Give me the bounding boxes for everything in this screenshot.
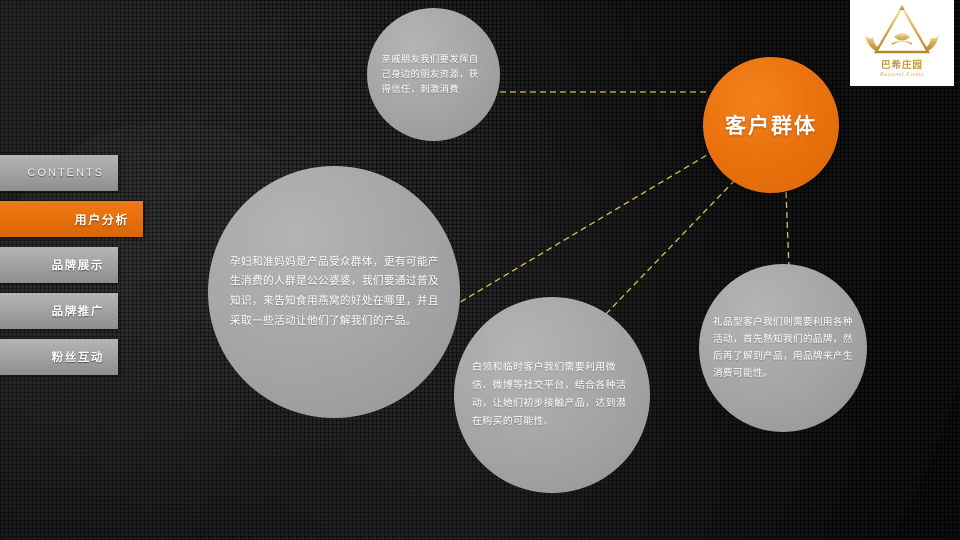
connector-pregnant: [452, 152, 712, 307]
brand-logo: 巴希庄园 Bassinet Estate: [850, 0, 954, 86]
slide-canvas: CONTENTS 用户分析 品牌展示 品牌推广 粉丝互动 亲戚朋友我们要发挥自己…: [0, 0, 960, 540]
brand-name-en: Bassinet Estate: [880, 72, 924, 78]
connector-whitecollar: [604, 180, 735, 316]
bubble-pregnant-mothers-text: 孕妇和准妈妈是产品受众群体，更有可能产生消费的人群是公公婆婆，我们要通过普及知识…: [230, 253, 446, 331]
sidebar-item-brand-promotion[interactable]: 品牌推广: [0, 293, 118, 329]
sidebar-item-user-analysis[interactable]: 用户分析: [0, 201, 143, 237]
sidebar-item-label: 粉丝互动: [52, 349, 104, 365]
bubble-white-collar[interactable]: 白领和临时客户我们需要利用微信、微博等社交平台，结合各种活动，让她们初步接触产品…: [454, 297, 650, 493]
sidebar-item-label: 品牌推广: [52, 303, 104, 319]
sidebar-item-brand-display[interactable]: 品牌展示: [0, 247, 118, 283]
core-label: 客户群体: [725, 110, 817, 140]
sidebar-header-label: CONTENTS: [28, 167, 105, 179]
connector-gift: [786, 192, 789, 268]
sidebar: CONTENTS 用户分析 品牌展示 品牌推广 粉丝互动: [0, 155, 150, 385]
bubble-core-customer-group[interactable]: 客户群体: [703, 57, 839, 193]
bubble-white-collar-text: 白领和临时客户我们需要利用微信、微博等社交平台，结合各种活动，让她们初步接触产品…: [472, 359, 632, 430]
bubble-gift-customers-text: 礼品型客户我们则需要利用各种活动，首先熟知我们的品牌，然后再了解到产品，用品牌来…: [713, 314, 853, 382]
bubble-gift-customers[interactable]: 礼品型客户我们则需要利用各种活动，首先熟知我们的品牌，然后再了解到产品，用品牌来…: [699, 264, 867, 432]
bubble-pregnant-mothers[interactable]: 孕妇和准妈妈是产品受众群体，更有可能产生消费的人群是公公婆婆，我们要通过普及知识…: [208, 166, 460, 418]
sidebar-header-contents: CONTENTS: [0, 155, 118, 191]
sidebar-item-fan-interaction[interactable]: 粉丝互动: [0, 339, 118, 375]
bubble-relatives-text: 亲戚朋友我们要发挥自己身边的朋友资源，获得信任，刺激消费: [382, 52, 486, 97]
temple-triangle-icon: [859, 4, 945, 56]
sidebar-item-label: 用户分析: [75, 211, 129, 228]
brand-name-cn: 巴希庄园: [881, 57, 923, 71]
sidebar-item-label: 品牌展示: [52, 257, 104, 273]
bubble-relatives[interactable]: 亲戚朋友我们要发挥自己身边的朋友资源，获得信任，刺激消费: [367, 8, 500, 141]
